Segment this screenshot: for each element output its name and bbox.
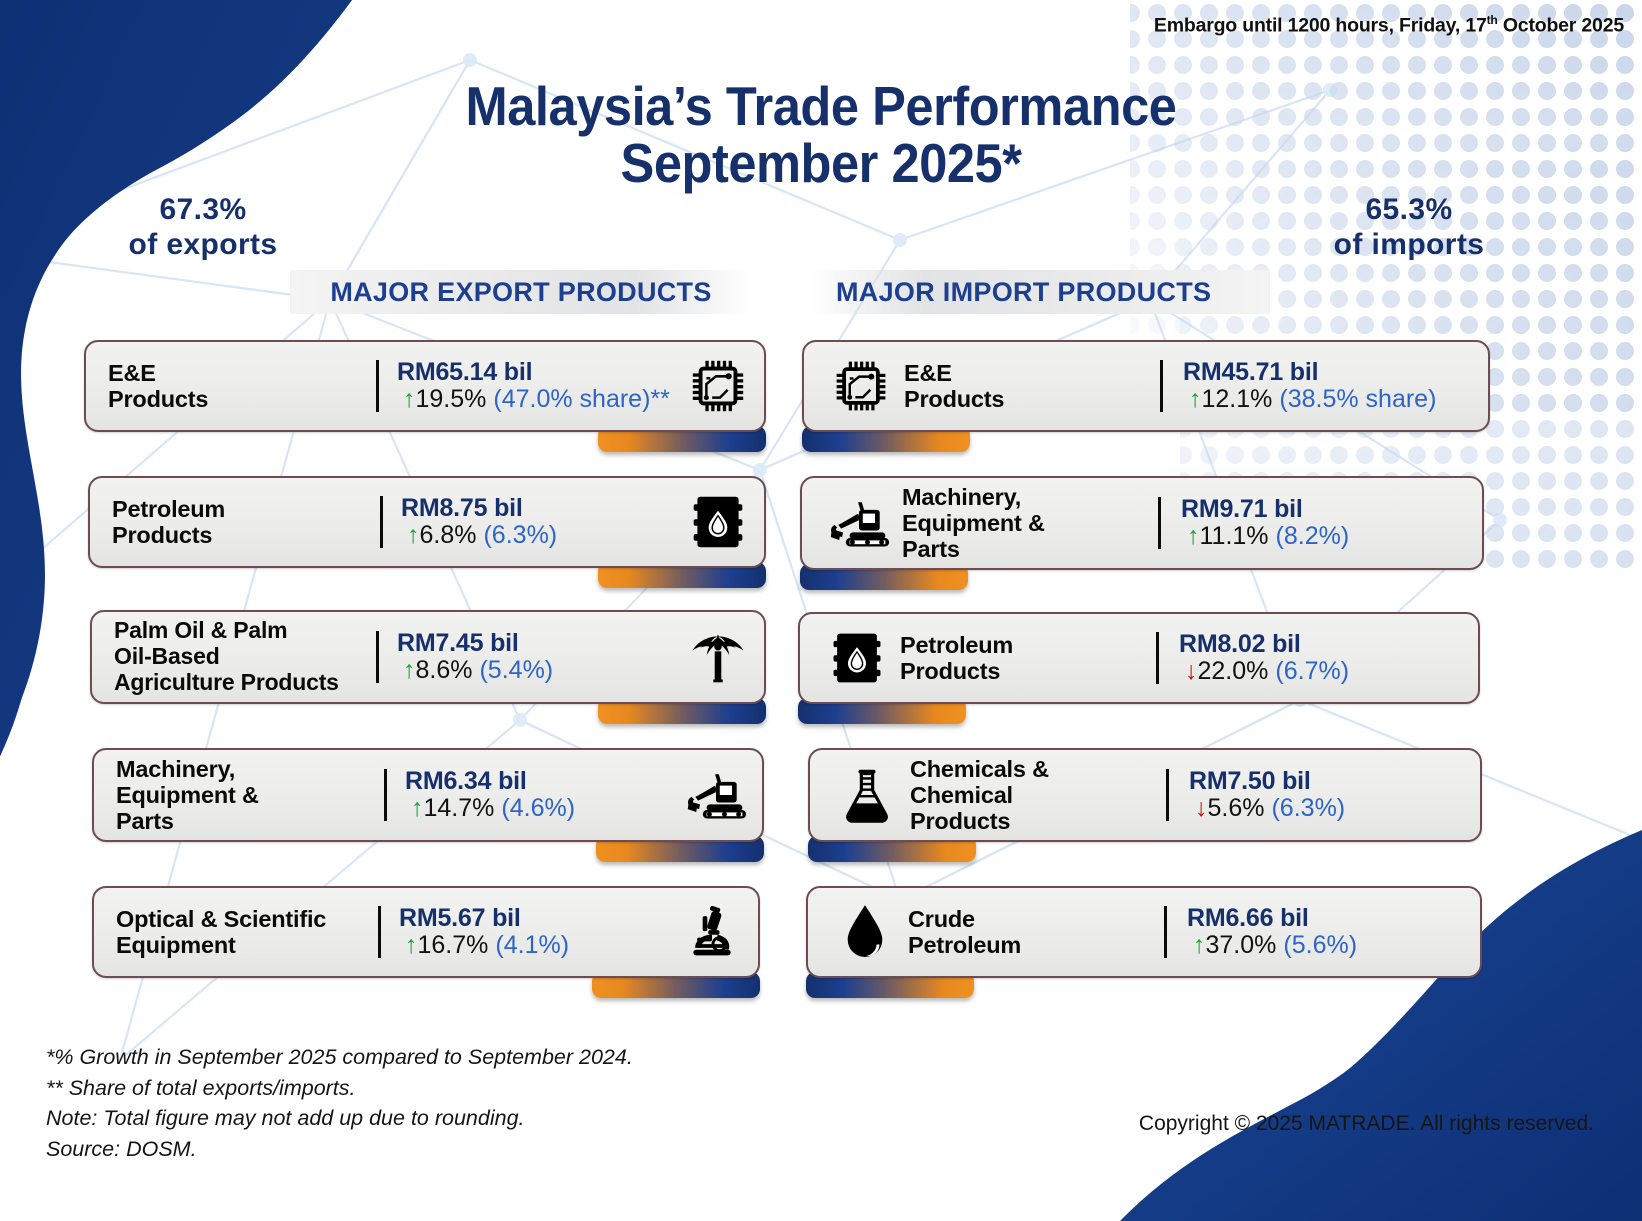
import-card-2[interactable]: Machinery,Equipment &Parts RM9.71 bil ↑1… xyxy=(800,476,1484,570)
amount-value: RM5.67 bil xyxy=(399,905,676,933)
arrow-down-icon: ↓ xyxy=(1195,794,1208,822)
footnotes: *% Growth in September 2025 compared to … xyxy=(46,1042,633,1164)
title-line-2: September 2025* xyxy=(66,135,1577,192)
footnote-line-2: ** Share of total exports/imports. xyxy=(46,1073,633,1104)
exports-share-callout: 67.3% of exports xyxy=(88,192,318,263)
share-value: (8.2%) xyxy=(1269,522,1350,550)
export-card-5[interactable]: Optical & ScientificEquipment RM5.67 bil… xyxy=(92,886,760,978)
footnote-line-3: Note: Total figure may not add up due to… xyxy=(46,1103,633,1134)
import-card-3[interactable]: PetroleumProducts RM8.02 bil ↓22.0%(6.7%… xyxy=(798,612,1480,704)
product-figures: RM6.66 bil ↑37.0%(5.6%) xyxy=(1187,905,1458,960)
vertical-divider xyxy=(1166,769,1169,821)
export-header-label: MAJOR EXPORT PRODUCTS xyxy=(330,277,711,308)
embargo-prefix: Embargo until 1200 hours, Friday, 17 xyxy=(1154,15,1487,37)
microchip-icon xyxy=(818,356,904,416)
vertical-divider xyxy=(1160,360,1163,412)
product-figures: RM8.02 bil ↓22.0%(6.7%) xyxy=(1179,631,1456,686)
excavator-icon xyxy=(816,496,902,550)
footnote-line-1: *% Growth in September 2025 compared to … xyxy=(46,1042,633,1073)
vertical-divider xyxy=(1164,906,1167,958)
product-label: PetroleumProducts xyxy=(900,632,1156,685)
product-figures: RM9.71 bil ↑11.1%(8.2%) xyxy=(1181,496,1460,551)
amount-value: RM9.71 bil xyxy=(1181,496,1460,524)
growth-percent: 37.0% xyxy=(1206,931,1277,959)
excavator-icon xyxy=(680,768,752,822)
copyright-notice: Copyright © 2025 MATRADE. All rights res… xyxy=(1139,1112,1594,1136)
growth-value: ↑6.8%(6.3%) xyxy=(401,522,682,550)
share-value: (6.7%) xyxy=(1268,657,1349,685)
amount-value: RM6.66 bil xyxy=(1187,905,1458,933)
palm-tree-icon xyxy=(682,626,754,688)
product-label: PetroleumProducts xyxy=(112,496,380,549)
product-label: CrudePetroleum xyxy=(908,906,1164,959)
growth-percent: 6.8% xyxy=(420,521,477,549)
product-label: Machinery,Equipment &Parts xyxy=(902,484,1158,563)
growth-percent: 14.7% xyxy=(424,794,495,822)
product-figures: RM7.45 bil ↑8.6%(5.4%) xyxy=(397,630,682,685)
share-value: (6.3%) xyxy=(1264,794,1345,822)
import-card-4[interactable]: Chemicals &ChemicalProducts RM7.50 bil ↓… xyxy=(808,748,1482,842)
product-figures: RM6.34 bil ↑14.7%(4.6%) xyxy=(405,768,680,823)
growth-value: ↑16.7%(4.1%) xyxy=(399,932,676,960)
growth-value: ↓5.6%(6.3%) xyxy=(1189,795,1458,823)
amount-value: RM45.71 bil xyxy=(1183,359,1466,387)
amount-value: RM7.45 bil xyxy=(397,630,682,658)
footnote-marker: ** xyxy=(650,385,669,413)
oil-drop-icon xyxy=(822,902,908,962)
vertical-divider xyxy=(376,631,379,683)
imports-share-value: 65.3% xyxy=(1294,192,1524,227)
product-figures: RM65.14 bil ↑19.5%(47.0% share)** xyxy=(397,359,682,414)
vertical-divider xyxy=(1156,632,1159,684)
product-label: E&EProducts xyxy=(108,360,376,413)
vertical-divider xyxy=(384,769,387,821)
product-label: Machinery,Equipment &Parts xyxy=(116,756,384,835)
embargo-suffix: October 2025 xyxy=(1498,15,1624,37)
arrow-up-icon: ↑ xyxy=(1193,931,1206,959)
growth-value: ↑37.0%(5.6%) xyxy=(1187,932,1458,960)
import-card-5[interactable]: CrudePetroleum RM6.66 bil ↑37.0%(5.6%) xyxy=(806,886,1482,978)
amount-value: RM65.14 bil xyxy=(397,359,682,387)
export-card-2[interactable]: PetroleumProducts RM8.75 bil ↑6.8%(6.3%) xyxy=(88,476,766,568)
growth-percent: 12.1% xyxy=(1202,385,1273,413)
share-value: (4.6%) xyxy=(494,794,575,822)
amount-value: RM7.50 bil xyxy=(1189,768,1458,796)
arrow-up-icon: ↑ xyxy=(405,931,418,959)
import-card-1[interactable]: E&EProducts RM45.71 bil ↑12.1%(38.5% sha… xyxy=(802,340,1490,432)
amount-value: RM6.34 bil xyxy=(405,768,680,796)
major-import-products-header: MAJOR IMPORT PRODUCTS xyxy=(808,270,1270,314)
growth-value: ↑12.1%(38.5% share) xyxy=(1183,386,1466,414)
product-figures: RM5.67 bil ↑16.7%(4.1%) xyxy=(399,905,676,960)
oil-barrel-icon xyxy=(682,493,754,551)
export-card-4[interactable]: Machinery,Equipment &Parts RM6.34 bil ↑1… xyxy=(92,748,764,842)
import-header-label: MAJOR IMPORT PRODUCTS xyxy=(836,277,1211,308)
major-export-products-header: MAJOR EXPORT PRODUCTS xyxy=(290,270,752,314)
footnote-line-4: Source: DOSM. xyxy=(46,1134,633,1165)
arrow-up-icon: ↑ xyxy=(407,521,420,549)
growth-value: ↑11.1%(8.2%) xyxy=(1181,523,1460,551)
share-value: (5.4%) xyxy=(472,656,553,684)
imports-share-callout: 65.3% of imports xyxy=(1294,192,1524,263)
product-figures: RM45.71 bil ↑12.1%(38.5% share) xyxy=(1183,359,1466,414)
share-value: (47.0% share) xyxy=(486,385,650,413)
growth-value: ↑19.5%(47.0% share)** xyxy=(397,386,682,414)
growth-value: ↓22.0%(6.7%) xyxy=(1179,658,1456,686)
share-value: (5.6%) xyxy=(1276,931,1357,959)
export-card-1[interactable]: E&EProducts RM65.14 bil ↑19.5%(47.0% sha… xyxy=(84,340,766,432)
exports-share-value: 67.3% xyxy=(88,192,318,227)
growth-percent: 16.7% xyxy=(418,931,489,959)
growth-percent: 8.6% xyxy=(416,656,473,684)
export-card-3[interactable]: Palm Oil & PalmOil-BasedAgriculture Prod… xyxy=(90,610,766,704)
product-label: Optical & ScientificEquipment xyxy=(116,906,378,959)
arrow-up-icon: ↑ xyxy=(411,794,424,822)
microscope-icon xyxy=(676,903,748,961)
imports-share-caption: of imports xyxy=(1334,228,1485,261)
share-value: (4.1%) xyxy=(488,931,569,959)
amount-value: RM8.75 bil xyxy=(401,495,682,523)
product-figures: RM8.75 bil ↑6.8%(6.3%) xyxy=(401,495,682,550)
share-value: (6.3%) xyxy=(476,521,557,549)
title-line-1: Malaysia’s Trade Performance xyxy=(466,75,1177,137)
vertical-divider xyxy=(380,496,383,548)
product-label: Palm Oil & PalmOil-BasedAgriculture Prod… xyxy=(114,618,376,695)
growth-percent: 19.5% xyxy=(416,385,487,413)
arrow-up-icon: ↑ xyxy=(1189,385,1202,413)
embargo-notice: Embargo until 1200 hours, Friday, 17th O… xyxy=(1154,13,1624,38)
arrow-up-icon: ↑ xyxy=(403,656,416,684)
vertical-divider xyxy=(1158,497,1161,549)
microchip-icon xyxy=(682,355,754,417)
product-figures: RM7.50 bil ↓5.6%(6.3%) xyxy=(1189,768,1458,823)
flask-icon xyxy=(824,766,910,824)
share-value: (38.5% share) xyxy=(1272,385,1436,413)
product-label: Chemicals &ChemicalProducts xyxy=(910,756,1166,835)
arrow-up-icon: ↑ xyxy=(1187,522,1200,550)
arrow-down-icon: ↓ xyxy=(1185,657,1198,685)
growth-percent: 11.1% xyxy=(1200,522,1269,550)
growth-value: ↑8.6%(5.4%) xyxy=(397,657,682,685)
growth-value: ↑14.7%(4.6%) xyxy=(405,795,680,823)
arrow-up-icon: ↑ xyxy=(403,385,416,413)
oil-barrel-icon xyxy=(814,630,900,686)
embargo-ordinal-suffix: th xyxy=(1487,13,1498,27)
page-title: Malaysia’s Trade Performance September 2… xyxy=(66,78,1577,191)
vertical-divider xyxy=(378,906,381,958)
exports-share-caption: of exports xyxy=(128,228,277,261)
product-label: E&EProducts xyxy=(904,360,1160,413)
growth-percent: 5.6% xyxy=(1208,794,1265,822)
vertical-divider xyxy=(376,360,379,412)
amount-value: RM8.02 bil xyxy=(1179,631,1456,659)
growth-percent: 22.0% xyxy=(1198,657,1269,685)
